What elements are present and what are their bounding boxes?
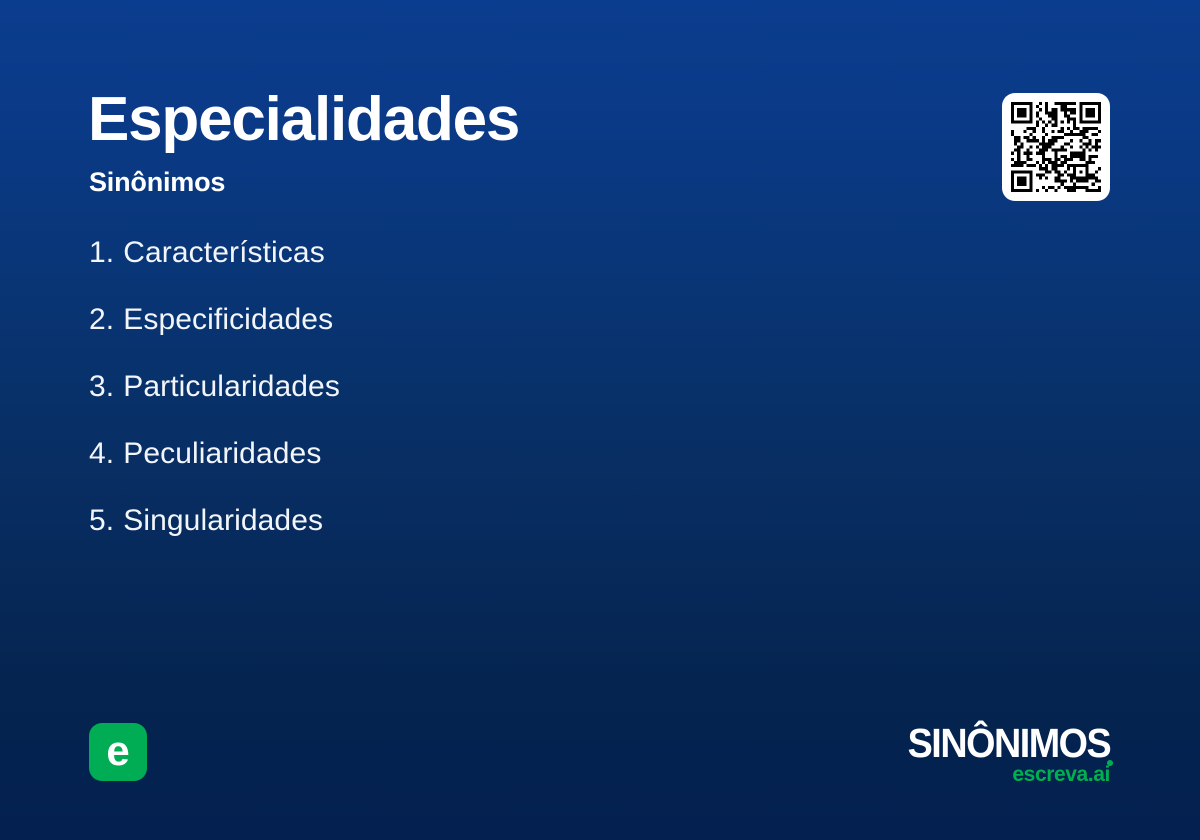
synonym-number: 1. (89, 236, 114, 269)
brand-sub: escreva.ai (1012, 764, 1110, 786)
synonym-word: Características (123, 236, 325, 269)
brand-lockup[interactable]: SINÔNIMOS escreva.ai (865, 722, 1113, 786)
synonym-number: 4. (89, 437, 114, 470)
synonym-number: 5. (89, 504, 114, 537)
page-subtitle: Sinônimos (89, 168, 225, 198)
escreva-app-badge[interactable]: e (89, 723, 147, 781)
synonym-item: 2.Especificidades (89, 305, 729, 372)
synonym-item: 1.Características (89, 238, 729, 305)
synonym-list: 1.Características2.Especificidades3.Part… (89, 238, 729, 573)
synonym-number: 2. (89, 303, 114, 336)
qr-code-icon (1011, 102, 1101, 192)
synonym-word: Peculiaridades (123, 437, 321, 470)
synonym-word: Especificidades (123, 303, 333, 336)
synonym-number: 3. (89, 370, 114, 403)
synonym-item: 3.Particularidades (89, 372, 729, 439)
qr-code[interactable] (1002, 93, 1110, 201)
synonym-card: Especialidades Sinônimos 1.Característic… (0, 0, 1200, 840)
page-title: Especialidades (88, 87, 519, 152)
synonym-word: Singularidades (123, 504, 323, 537)
brand-name: SINÔNIMOS (907, 722, 1110, 765)
synonym-item: 5.Singularidades (89, 506, 729, 573)
synonym-item: 4.Peculiaridades (89, 439, 729, 506)
synonym-word: Particularidades (123, 370, 340, 403)
escreva-e-icon: e (89, 723, 147, 781)
